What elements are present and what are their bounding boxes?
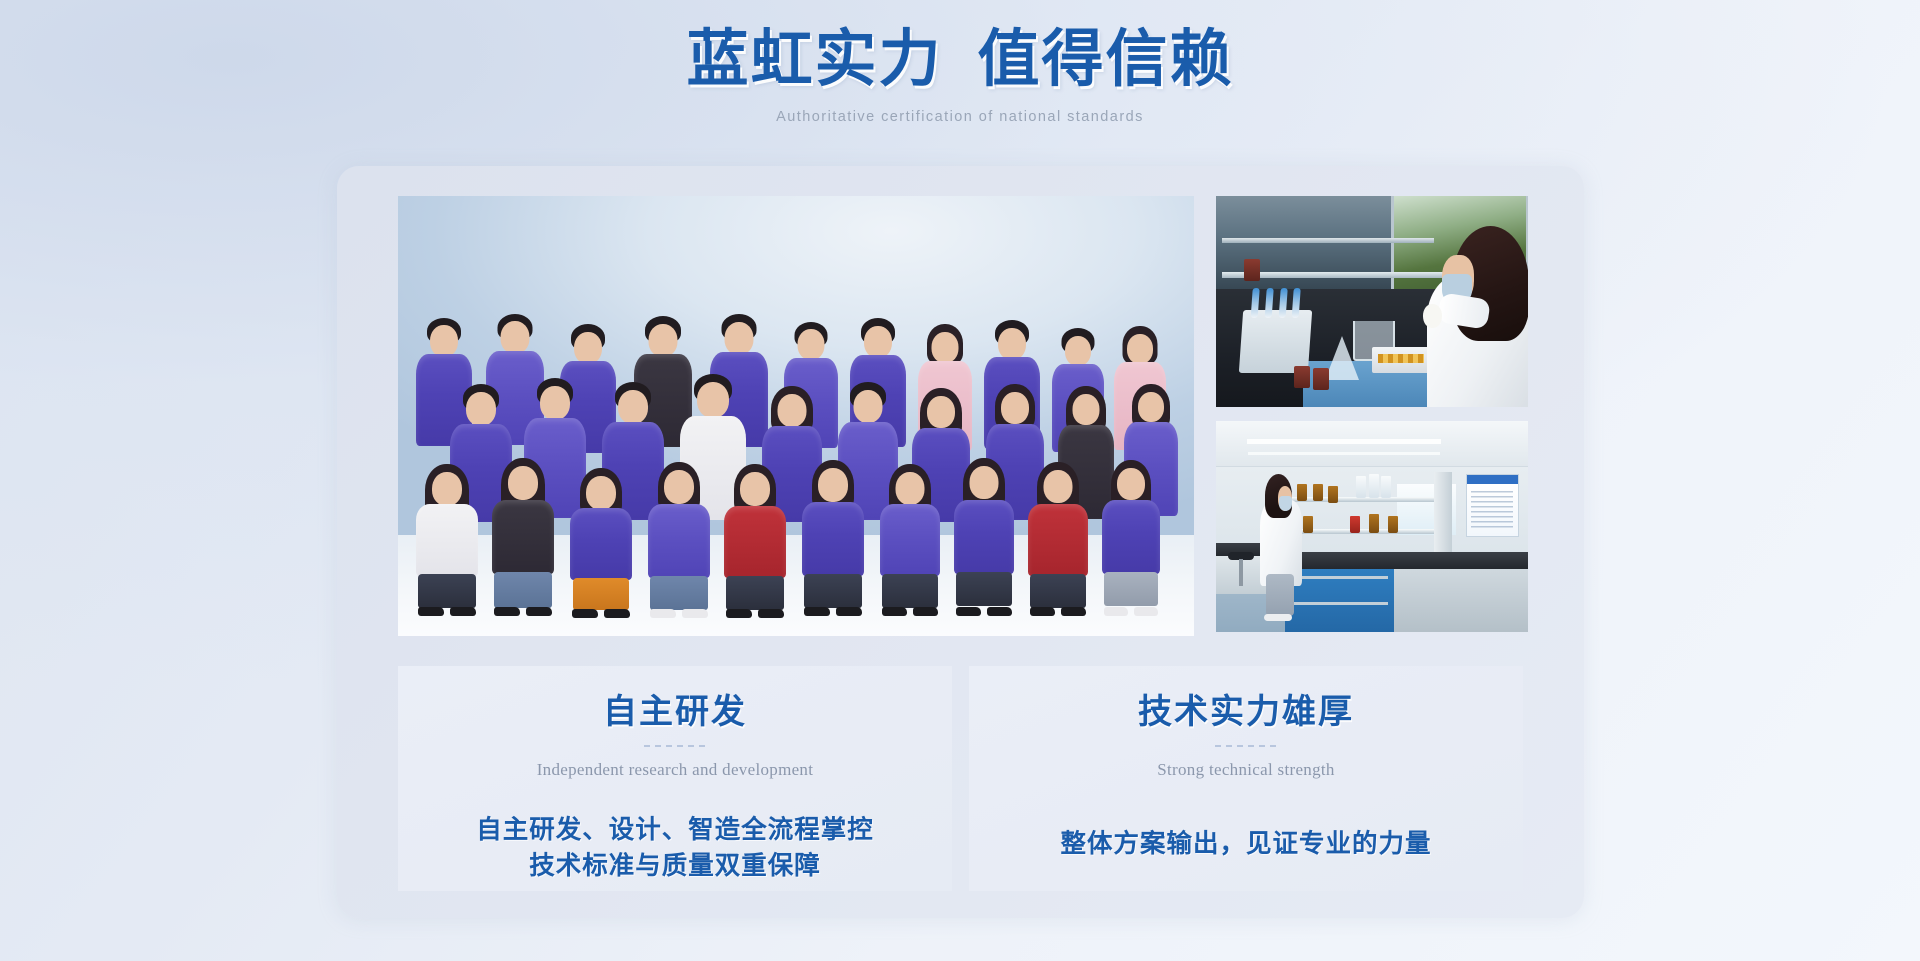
- feature-card-title: 自主研发: [398, 692, 952, 735]
- lab2-reagent-bottle: [1369, 514, 1379, 533]
- lab2-technician: [1257, 474, 1307, 622]
- page-header: 蓝虹实力 值得信赖 Authoritative certification of…: [0, 22, 1920, 125]
- lab2-ceiling: [1216, 421, 1528, 467]
- page-subtitle: Authoritative certification of national …: [0, 109, 1920, 125]
- page-title: 蓝虹实力 值得信赖: [0, 22, 1920, 100]
- lab2-face-mask: [1279, 496, 1293, 511]
- lab2-reagent-bottle: [1388, 516, 1398, 533]
- feature-card-body: 自主研发、设计、智造全流程掌控 技术标准与质量双重保障: [398, 812, 952, 886]
- lab2-glass-cylinder: [1356, 476, 1366, 498]
- lab2-glass-cylinder: [1381, 476, 1391, 498]
- lab2-safety-poster: [1466, 474, 1519, 537]
- content-panel: 自主研发 Independent research and developmen…: [337, 166, 1584, 918]
- lab1-reagent-bottle: [1294, 366, 1310, 388]
- lab1-reagent-bottle: [1313, 368, 1329, 390]
- lab2-reagent-bottle: [1328, 486, 1338, 503]
- lab2-jeans: [1266, 574, 1295, 615]
- lab2-upper-shelf: [1285, 497, 1447, 502]
- laboratory-room-photo[interactable]: [1216, 421, 1528, 632]
- lab1-back-wall: [1216, 196, 1394, 295]
- lab2-shoes: [1264, 614, 1293, 621]
- lab2-reagent-bottle: [1313, 484, 1323, 501]
- dashed-divider-icon: [1215, 745, 1277, 747]
- lab-technician-photo[interactable]: [1216, 196, 1528, 407]
- feature-card-subtitle: Independent research and development: [398, 760, 952, 780]
- lab1-technician: [1409, 226, 1528, 407]
- feature-card-independent-rd[interactable]: 自主研发 Independent research and developmen…: [398, 666, 952, 891]
- lab2-glass-cylinder: [1369, 474, 1379, 498]
- feature-card-technical-strength[interactable]: 技术实力雄厚 Strong technical strength 整体方案输出，…: [969, 666, 1523, 891]
- feature-card-title: 技术实力雄厚: [969, 692, 1523, 735]
- feature-card-body: 整体方案输出，见证专业的力量: [969, 826, 1523, 863]
- lab1-pipette-rack: [1239, 310, 1312, 373]
- lab1-reagent-bottle: [1244, 259, 1260, 281]
- lab2-bench-top: [1285, 552, 1528, 569]
- lab2-reagent-bottle: [1350, 516, 1360, 533]
- feature-card-list: 自主研发 Independent research and developmen…: [398, 666, 1523, 891]
- feature-card-subtitle: Strong technical strength: [969, 760, 1523, 780]
- lab1-upper-shelf: [1222, 238, 1434, 243]
- team-group-photo[interactable]: [398, 196, 1194, 636]
- lab2-stool: [1228, 552, 1254, 586]
- dashed-divider-icon: [644, 745, 706, 747]
- lab1-glove: [1423, 304, 1442, 328]
- team-photo-people: [398, 196, 1194, 636]
- lab2-grey-cabinet: [1394, 569, 1528, 632]
